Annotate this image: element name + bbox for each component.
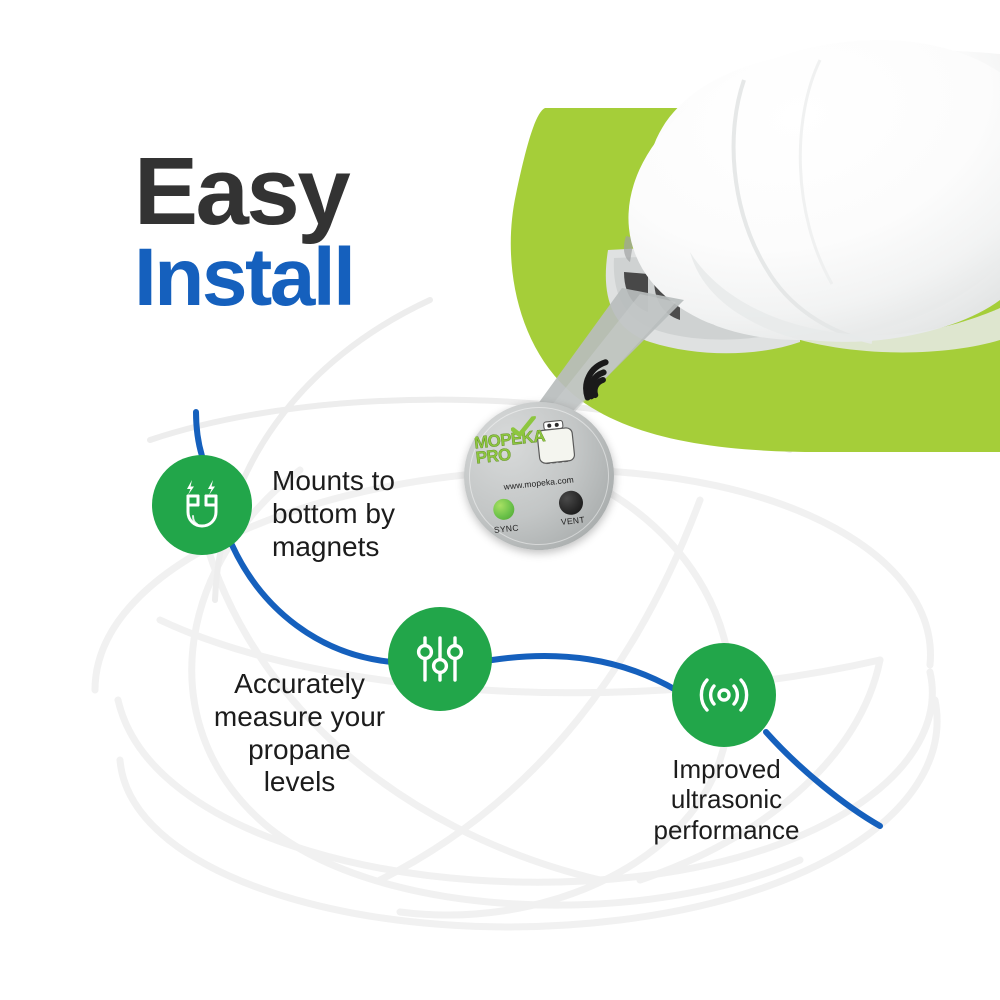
feature-label-measure: Accurately measure your propane levels — [212, 668, 387, 799]
checkmark-icon — [510, 416, 538, 439]
curve-segment-top — [196, 412, 202, 456]
page-title-line-1: Easy — [134, 148, 564, 236]
infographic-canvas: Easy Install — [0, 0, 1000, 1000]
sensor-puck-face: MOPEKA PRO www.mopeka.com SYNC VENT — [457, 395, 622, 558]
headline-block: Easy Install — [134, 148, 564, 316]
wifi-signal-icon — [568, 350, 624, 406]
feature-icon-ultrasonic — [672, 643, 776, 747]
page-title-line-2: Install — [134, 240, 564, 315]
mopeka-sensor-assembly: MOPEKA PRO www.mopeka.com SYNC VENT — [440, 330, 680, 580]
sliders-icon — [411, 630, 469, 688]
feature-label-ultrasonic: Improved ultrasonic performance — [644, 754, 809, 845]
curve-segment-middle-2 — [492, 656, 676, 690]
feature-icon-sliders — [388, 607, 492, 711]
ultrasonic-waves-icon — [693, 664, 755, 726]
magnet-icon — [173, 476, 231, 534]
feature-label-magnets: Mounts to bottom by magnets — [272, 465, 395, 563]
feature-icon-magnet — [152, 455, 252, 555]
